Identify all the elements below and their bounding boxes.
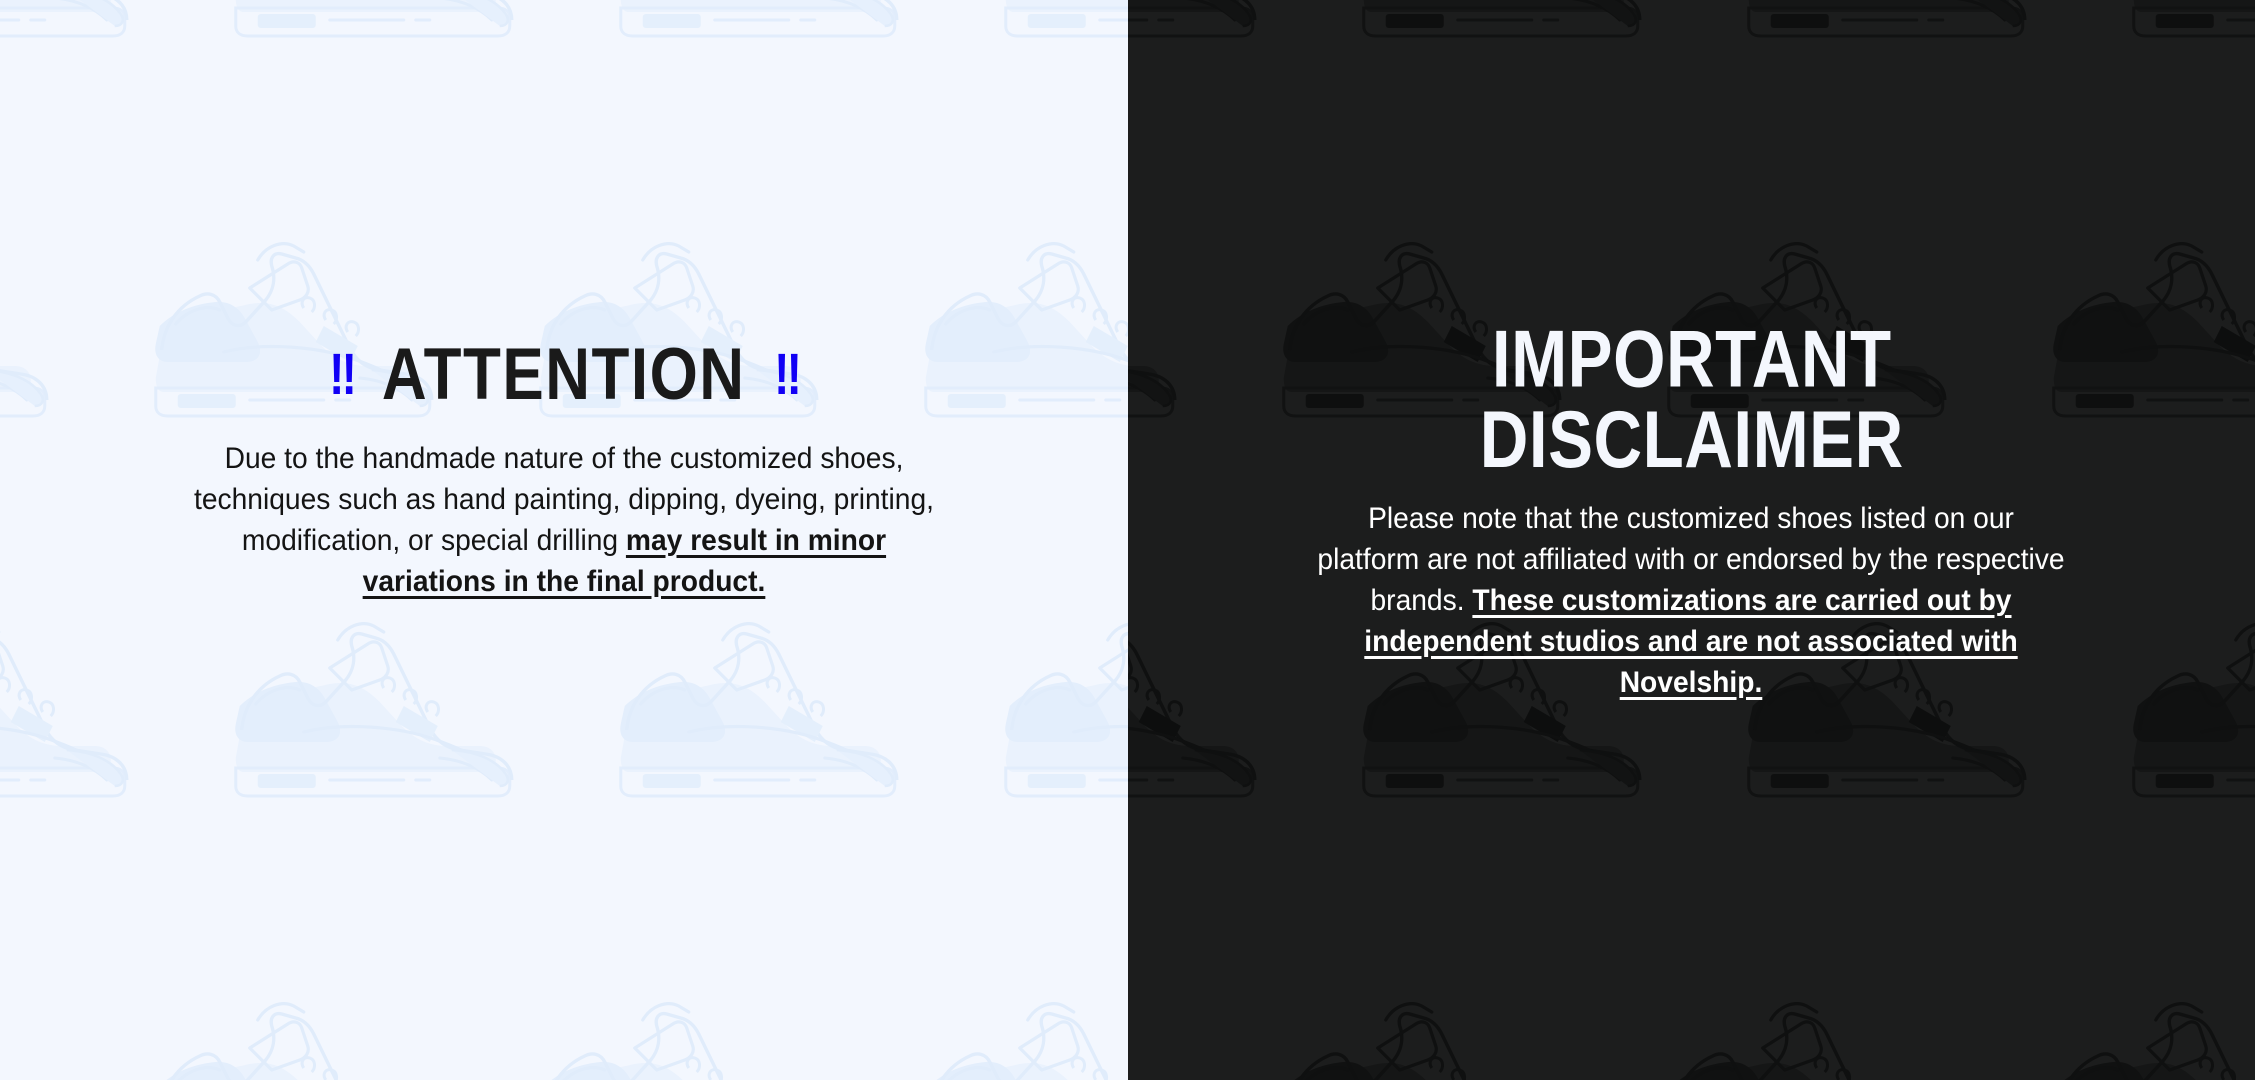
customization-notice-banner: ‼ ATTENTION ‼ Due to the handmade nature… <box>0 0 2255 1080</box>
disclaimer-heading-line1: IMPORTANT <box>1157 318 2225 399</box>
double-exclamation-left-icon: ‼ <box>329 347 353 403</box>
disclaimer-content: IMPORTANT DISCLAIMER Please note that th… <box>1128 0 2255 703</box>
disclaimer-panel: IMPORTANT DISCLAIMER Please note that th… <box>1128 0 2255 1080</box>
double-exclamation-right-icon: ‼ <box>774 347 798 403</box>
attention-heading-text: ATTENTION <box>382 340 746 410</box>
attention-body: Due to the handmade nature of the custom… <box>192 438 935 602</box>
attention-heading: ‼ ATTENTION ‼ <box>40 340 1088 410</box>
disclaimer-heading-line2: DISCLAIMER <box>1157 399 2225 480</box>
disclaimer-body: Please note that the customized shoes li… <box>1315 498 2067 703</box>
attention-content: ‼ ATTENTION ‼ Due to the handmade nature… <box>0 0 1128 602</box>
attention-panel: ‼ ATTENTION ‼ Due to the handmade nature… <box>0 0 1128 1080</box>
disclaimer-heading: IMPORTANT DISCLAIMER <box>1157 318 2225 479</box>
